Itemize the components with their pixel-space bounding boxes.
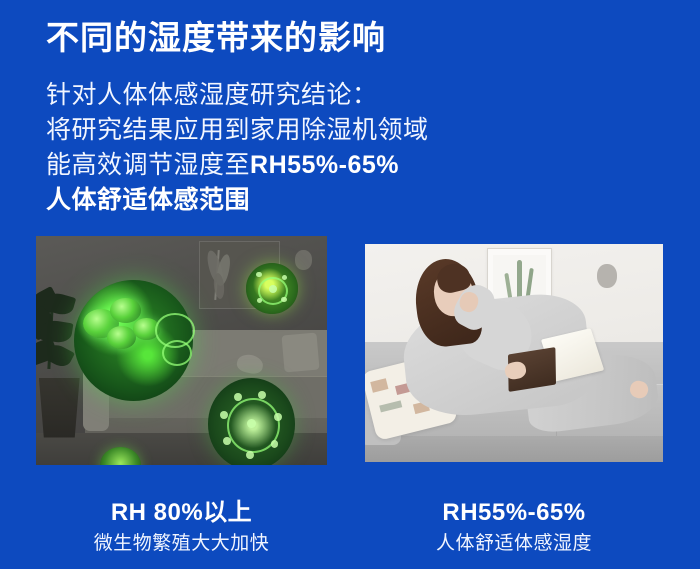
body-line-3-highlight: RH55%-65% [250,151,399,179]
body-line-3-normal: 能高效调节湿度至 [46,151,250,179]
microbe-spike [246,451,254,459]
image-high-humidity [36,236,327,465]
plant-pot [39,378,80,438]
caption-comfort-humidity: RH55%-65% 人体舒适体感湿度 [365,498,663,557]
microbe-sphere-small [246,263,298,313]
microbe-cell [110,298,141,323]
body-line-1: 针对人体体感湿度研究结论： [46,78,429,113]
microbe-spike [257,298,262,303]
caption-title: RH55%-65% [365,498,663,528]
caption-subtitle: 人体舒适体感湿度 [365,531,663,557]
body-line-2: 将研究结果应用到家用除湿机领域 [46,113,429,148]
wall-switch-icon [597,264,617,288]
body-paragraph: 针对人体体感湿度研究结论： 将研究结果应用到家用除湿机领域 能高效调节湿度至RH… [46,78,429,218]
poster-root: 不同的湿度带来的影响 针对人体体感湿度研究结论： 将研究结果应用到家用除湿机领域… [0,0,700,569]
microbe-spike [256,272,262,278]
body-line-4: 人体舒适体感范围 [46,183,429,218]
caption-high-humidity: RH 80%以上 微生物繁殖大大加快 [36,498,327,557]
microbe-spike [281,297,287,303]
caption-title: RH 80%以上 [36,498,327,528]
sofa-base [365,436,663,462]
microbe-spike [282,275,287,280]
microbe-sphere-large [74,280,193,401]
microbe-spike [258,391,266,399]
pillow-pattern [370,378,389,393]
microbe-spike [220,411,228,419]
microbe-core [247,419,256,428]
page-title: 不同的湿度带来的影响 [46,16,386,60]
body-line-3: 能高效调节湿度至RH55%-65% [46,148,429,183]
microbe-spike [274,413,282,421]
microbe-core [269,285,277,293]
sofa-cushion [282,333,320,373]
microbe-spike [234,393,242,401]
wall-switch-icon [295,250,312,270]
microbe-sphere-medium [208,378,295,465]
caption-subtitle: 微生物繁殖大大加快 [36,531,327,557]
image-comfort-humidity [365,244,663,462]
pillow-pattern [379,400,402,412]
microbe-cell [107,326,136,349]
microbe-spike [271,440,279,448]
microbe-ring [162,340,192,366]
microbe-spike [223,437,231,445]
